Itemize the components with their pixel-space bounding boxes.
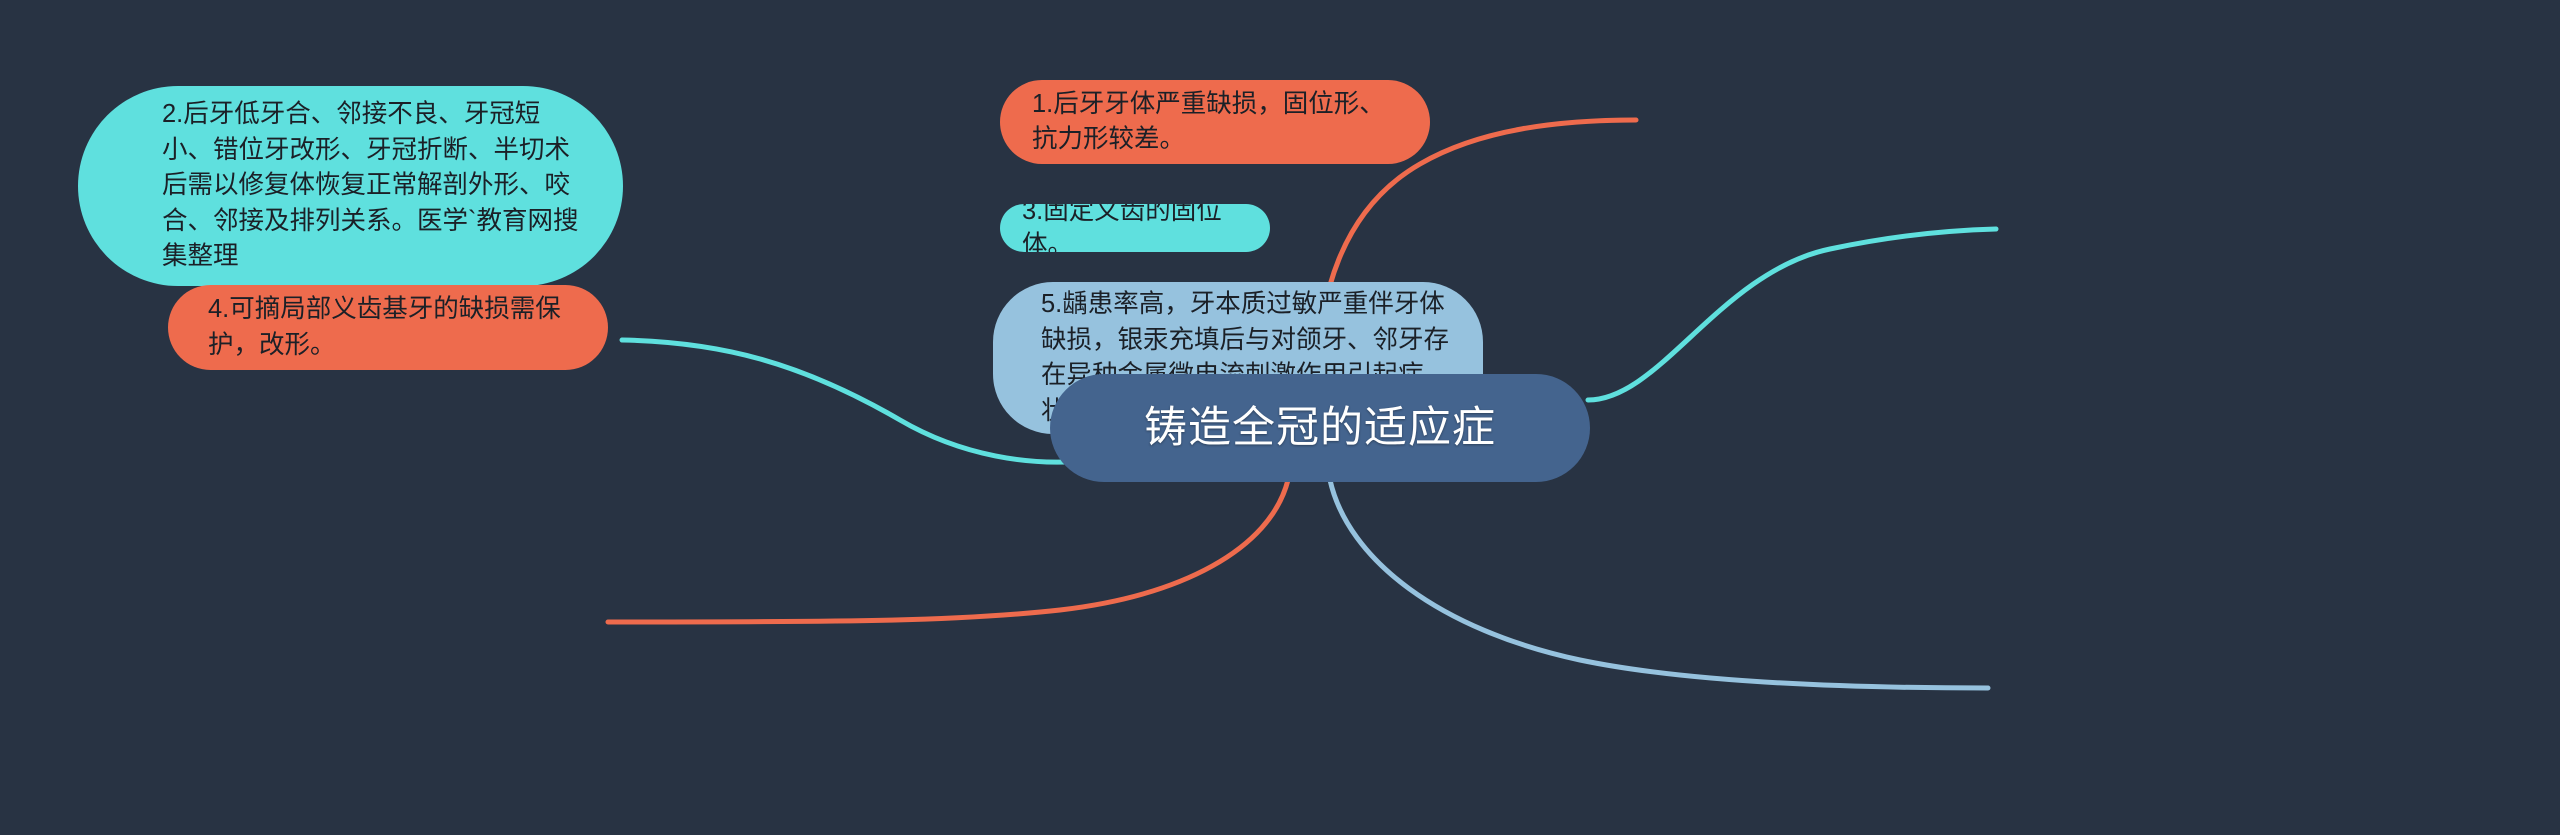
branch-2-label: 2.后牙低牙合、邻接不良、牙冠短小、错位牙改形、牙冠折断、半切术后需以修复体恢复…	[162, 97, 589, 275]
connector-root-to-branch-4	[608, 480, 1288, 622]
root-node-label: 铸造全冠的适应症	[1050, 402, 1590, 454]
mindmap-root-node[interactable]: 铸造全冠的适应症	[1050, 374, 1590, 482]
branch-1-label: 1.后牙牙体严重缺损，固位形、抗力形较差。	[1032, 87, 1404, 158]
connector-root-to-branch-5	[1330, 480, 1988, 688]
mindmap-node-branch-1[interactable]: 1.后牙牙体严重缺损，固位形、抗力形较差。	[1000, 80, 1430, 164]
branch-3-label: 3.固定义齿的固位体。	[1022, 204, 1250, 252]
mindmap-node-branch-4[interactable]: 4.可摘局部义齿基牙的缺损需保护，改形。	[168, 285, 608, 370]
connector-root-to-branch-3	[1588, 229, 1996, 400]
mindmap-canvas: 2.后牙低牙合、邻接不良、牙冠短小、错位牙改形、牙冠折断、半切术后需以修复体恢复…	[0, 0, 2560, 835]
branch-4-label: 4.可摘局部义齿基牙的缺损需保护，改形。	[208, 292, 584, 363]
mindmap-node-branch-3[interactable]: 3.固定义齿的固位体。	[1000, 204, 1270, 252]
mindmap-node-branch-2[interactable]: 2.后牙低牙合、邻接不良、牙冠短小、错位牙改形、牙冠折断、半切术后需以修复体恢复…	[78, 86, 623, 286]
